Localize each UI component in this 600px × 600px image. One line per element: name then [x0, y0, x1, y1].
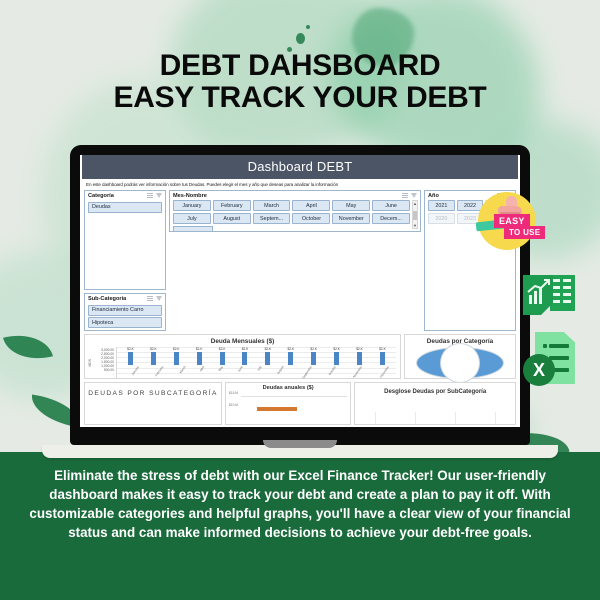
grid-cell: [563, 286, 571, 289]
bar-value-label: $2.K: [265, 347, 272, 351]
grid-line: [415, 412, 416, 424]
bar: [311, 352, 316, 365]
slicer-scrollbar[interactable]: ▲ ▼: [412, 200, 418, 229]
month-button[interactable]: July: [173, 213, 211, 224]
bar-value-label: $2.K: [356, 347, 363, 351]
clear-filter-icon[interactable]: [156, 193, 162, 198]
laptop-base: [42, 445, 558, 458]
bar-item: $2.K: [310, 347, 317, 365]
grid-cell: [563, 300, 571, 303]
bar-item: $2.K: [219, 347, 226, 365]
bar-item: $2.K: [288, 347, 295, 365]
slicer-item-deudas[interactable]: Deudas: [88, 202, 162, 213]
year-button-2020[interactable]: 2020: [428, 213, 455, 224]
promo-text: Eliminate the stress of debt with our Ex…: [18, 466, 582, 542]
bar-value-label: $2.K: [196, 347, 203, 351]
panel-subcategoria-title: DEUDAS POR SUBCATEGORÍA: [88, 389, 218, 399]
bar-value-label: $2.K: [173, 347, 180, 351]
bar: [151, 352, 156, 365]
scroll-down-icon[interactable]: ▼: [413, 223, 417, 228]
panel-desglose-title: Desglose Deudas por SubCategoría: [384, 388, 486, 397]
slicer-row: Categoría Deudas Sub-Categoría: [82, 190, 518, 331]
growth-arrow-icon: [523, 275, 553, 315]
debt-by-category-donut-chart: Deudas por Categoría: [404, 334, 516, 379]
slicer-header-icons: [402, 193, 417, 199]
donut-slice-divider: [460, 348, 461, 363]
bar: [265, 352, 270, 365]
x-tick-label: June: [237, 365, 251, 378]
doc-line: [549, 356, 569, 360]
x-tick-label: August: [276, 365, 292, 380]
bar-value-label: $2.K: [150, 347, 157, 351]
bar-chart-body: MDS 3,000.00 2,500.00 2,000.00 1,500.00 …: [85, 346, 400, 378]
excel-x-badge: X: [523, 354, 555, 386]
bar-value-label: $2.K: [242, 347, 249, 351]
laptop-base-notch: [263, 440, 337, 448]
clear-filter-icon[interactable]: [411, 193, 417, 198]
bar-chart-title: Deuda Mensuales ($): [85, 335, 400, 346]
slicer-ano-title: Año: [428, 193, 439, 199]
bar-item: $2.K: [356, 347, 363, 365]
title-line-1: DEBT DAHSBOARD: [0, 50, 600, 82]
bar-value-label: $2.K: [333, 347, 340, 351]
bar: [220, 352, 225, 365]
paint-spot: [306, 25, 310, 29]
y-tick: -: [92, 372, 114, 376]
bar-chart-y-axis-label: MDS: [87, 359, 92, 367]
laptop-screen: Dashboard DEBT En este dashboard podrás …: [80, 155, 520, 427]
bar-item: $2.K: [150, 347, 157, 365]
month-button[interactable]: June: [372, 200, 410, 211]
bar-chart-x-labels: JanuaryFebruaryMarchAprilMayJuneJulyAugu…: [119, 365, 394, 378]
x-tick-label: July: [256, 365, 270, 377]
bar-item: $2.K: [265, 347, 272, 365]
bar-value-label: $2.K: [219, 347, 226, 351]
grid-line: [495, 412, 496, 424]
mini-chart-y-tick-top: $15.M: [229, 391, 347, 395]
multi-select-icon[interactable]: [147, 296, 153, 302]
month-button[interactable]: Decem...: [372, 213, 410, 224]
month-button[interactable]: April: [292, 200, 330, 211]
month-button-partial[interactable]: [173, 226, 213, 231]
slicer-categoria-title: Categoría: [88, 193, 114, 199]
slicer-item-financiamiento-carro[interactable]: Financiamiento Carro: [88, 305, 162, 316]
grid-line: [455, 412, 456, 424]
grid-cell: [553, 300, 560, 303]
bar-item: $2.K: [127, 347, 134, 365]
panel-deudas-anuales: Deudas anuales ($) $15.M $10.M: [225, 382, 351, 425]
slicer-item-hipoteca[interactable]: Hipoteca: [88, 317, 162, 328]
easy-to-use-badge: EASY TO USE: [474, 192, 550, 254]
panel-desglose-deudas: Desglose Deudas por SubCategoría: [354, 382, 516, 425]
grid-cell: [563, 293, 571, 296]
spreadsheet-grid: [550, 275, 575, 311]
bar: [380, 352, 385, 365]
bar-item: $2.K: [242, 347, 249, 365]
bar: [357, 352, 362, 365]
month-button[interactable]: Septem...: [253, 213, 291, 224]
grid-cell: [553, 279, 560, 282]
promo-band: Eliminate the stress of debt with our Ex…: [0, 452, 600, 600]
grid-cell: [563, 279, 571, 282]
laptop-mockup: Dashboard DEBT En este dashboard podrás …: [70, 145, 530, 458]
laptop-lid: Dashboard DEBT En este dashboard podrás …: [70, 145, 530, 445]
excel-dashboard: Dashboard DEBT En este dashboard podrás …: [80, 155, 520, 427]
paint-spot: [296, 33, 305, 44]
bottom-panels-row: DEUDAS POR SUBCATEGORÍA Deudas anuales (…: [82, 379, 518, 425]
monthly-debt-bar-chart: Deuda Mensuales ($) MDS 3,000.00 2,500.0…: [84, 334, 401, 379]
panel-deudas-por-subcategoria: DEUDAS POR SUBCATEGORÍA: [84, 382, 222, 425]
bar-chart-plot-area: $2.K$2.K$2.K$2.K$2.K$2.K$2.K$2.K$2.K$2.K…: [116, 347, 396, 378]
multi-select-icon[interactable]: [147, 193, 153, 199]
bar: [197, 352, 202, 365]
bar-item: $2.K: [173, 347, 180, 365]
slicer-subcategoria-title: Sub-Categoría: [88, 296, 126, 302]
x-tick-label: May: [218, 365, 232, 377]
month-button[interactable]: May: [332, 200, 370, 211]
mini-chart-bar: [257, 407, 297, 411]
growth-chart-icon: [523, 275, 553, 315]
bar: [242, 352, 247, 365]
badge-label-to-use: TO USE: [504, 226, 545, 239]
slicer-mes-title: Mes-Nombre: [173, 193, 207, 199]
grid-line: [375, 412, 376, 424]
scrollbar-thumb[interactable]: [413, 211, 417, 220]
page-title: DEBT DAHSBOARD EASY TRACK YOUR DEBT: [0, 50, 600, 115]
month-button[interactable]: August: [213, 213, 251, 224]
bar: [128, 352, 133, 365]
dashboard-header-title: Dashboard DEBT: [82, 155, 518, 179]
month-buttons-grid: January February March April May June Ju…: [170, 200, 420, 225]
panel-desglose-gridlines: [355, 412, 515, 424]
bar-chart-y-ticks: 3,000.00 2,500.00 2,000.00 1,500.00 1,00…: [92, 347, 116, 378]
month-button[interactable]: January: [173, 200, 211, 211]
excel-document-icon: X: [523, 330, 581, 388]
slicer-subcategoria[interactable]: Sub-Categoría Financiamiento Carro Hipot…: [84, 293, 166, 331]
donut-ring: [417, 348, 503, 378]
month-slicer-column: Mes-Nombre January February March: [169, 190, 421, 331]
year-button-2021[interactable]: 2021: [428, 200, 455, 211]
doc-line: [549, 344, 569, 348]
dashboard-subtitle: En este dashboard podrás ver información…: [82, 179, 518, 190]
bar-value-label: $2.K: [127, 347, 134, 351]
bar-item: $2.K: [333, 347, 340, 365]
bar-series: $2.K$2.K$2.K$2.K$2.K$2.K$2.K$2.K$2.K$2.K…: [119, 347, 394, 365]
slicer-mes-header: Mes-Nombre: [170, 191, 420, 200]
bar: [288, 352, 293, 365]
slicer-mes-nombre[interactable]: Mes-Nombre January February March: [169, 190, 421, 232]
charts-row: Deuda Mensuales ($) MDS 3,000.00 2,500.0…: [82, 331, 518, 379]
month-button[interactable]: November: [332, 213, 370, 224]
doc-bullet: [543, 344, 547, 348]
slicer-header-icons: [147, 193, 162, 199]
bar-item: $2.K: [196, 347, 203, 365]
x-tick-label: March: [178, 365, 193, 379]
excel-chart-folder-icon: [523, 275, 575, 317]
grid-cell: [553, 286, 560, 289]
bar-item: $2.K: [379, 347, 386, 365]
title-line-2: EASY TRACK YOUR DEBT: [0, 82, 600, 114]
grid-cell: [553, 293, 560, 296]
x-tick-label: April: [199, 365, 213, 377]
category-slicer-column: Categoría Deudas Sub-Categoría: [84, 190, 166, 331]
clear-filter-icon[interactable]: [156, 296, 162, 301]
slicer-subcategoria-header: Sub-Categoría: [85, 294, 165, 303]
multi-select-icon[interactable]: [402, 193, 408, 199]
slicer-header-icons: [147, 296, 162, 302]
month-button[interactable]: February: [213, 200, 251, 211]
mini-chart-gridline: [241, 396, 347, 397]
month-button[interactable]: March: [253, 200, 291, 211]
bar-value-label: $2.K: [288, 347, 295, 351]
bar-value-label: $2.K: [310, 347, 317, 351]
scroll-up-icon[interactable]: ▲: [413, 201, 417, 206]
slicer-categoria[interactable]: Categoría Deudas: [84, 190, 166, 290]
slicer-categoria-header: Categoría: [85, 191, 165, 200]
bar-value-label: $2.K: [379, 347, 386, 351]
month-button[interactable]: October: [292, 213, 330, 224]
bar: [334, 352, 339, 365]
bar: [174, 352, 179, 365]
